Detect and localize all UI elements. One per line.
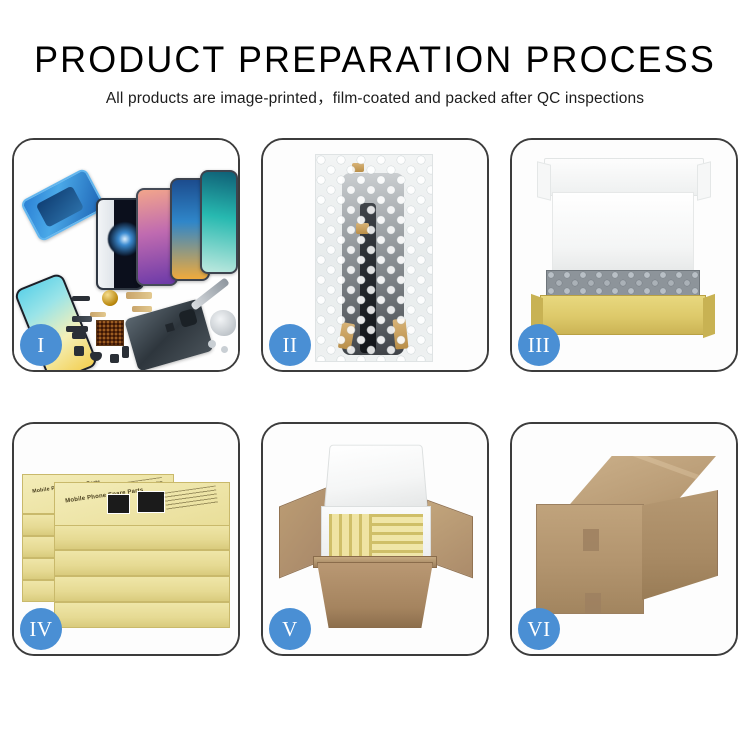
small-part bbox=[66, 326, 88, 332]
packed-yellow-boxes bbox=[329, 514, 423, 556]
sealed-carton bbox=[536, 456, 718, 616]
carton-tape-mark bbox=[583, 529, 599, 551]
page-header: PRODUCT PREPARATION PROCESS All products… bbox=[0, 0, 750, 111]
bubble-texture bbox=[316, 155, 432, 361]
process-step-panel-2: II bbox=[261, 138, 489, 372]
box-artwork-phone bbox=[107, 494, 130, 514]
screw-part bbox=[208, 340, 216, 348]
gold-component-icon bbox=[102, 290, 118, 306]
process-step-panel-6: VI bbox=[510, 422, 738, 656]
carton-seam bbox=[606, 442, 720, 488]
grey-bubble-wrap-layer bbox=[546, 270, 700, 298]
white-foam-sheet bbox=[552, 192, 694, 272]
stacked-box bbox=[54, 550, 230, 576]
styrofoam-lid bbox=[324, 445, 428, 509]
hand-holding-tool bbox=[210, 310, 236, 336]
small-part bbox=[74, 346, 84, 356]
small-part bbox=[122, 346, 129, 358]
process-step-panel-5: V bbox=[261, 422, 489, 656]
flex-cable-part bbox=[126, 292, 152, 299]
small-part bbox=[72, 296, 90, 301]
box-artwork-phone bbox=[137, 491, 165, 514]
bubble-wrap-bag bbox=[315, 154, 433, 362]
stacked-box-labelled: Mobile Phone Spare Parts bbox=[54, 482, 230, 526]
step-badge-6: VI bbox=[518, 608, 560, 650]
box-lid-open bbox=[544, 158, 704, 196]
process-steps-grid: I II III bbox=[12, 138, 738, 656]
process-step-panel-4: Mobile Phone Spare Parts Mobile Phone Sp… bbox=[12, 422, 240, 656]
process-step-panel-1: I bbox=[12, 138, 240, 372]
flex-cable-part bbox=[90, 312, 106, 317]
carton-front-face bbox=[536, 504, 644, 614]
carton-body bbox=[317, 562, 433, 628]
step-badge-2: II bbox=[269, 324, 311, 366]
small-part bbox=[110, 354, 119, 363]
stacked-box bbox=[54, 602, 230, 628]
page-title: PRODUCT PREPARATION PROCESS bbox=[11, 38, 739, 82]
yellow-kraft-box-tray bbox=[540, 295, 706, 335]
step-badge-3: III bbox=[518, 324, 560, 366]
connector-grid-part bbox=[96, 320, 124, 346]
phone-teal-swirl bbox=[200, 170, 238, 274]
stacked-box bbox=[54, 524, 230, 550]
carton-side-face bbox=[642, 490, 718, 600]
flex-cable-part bbox=[132, 306, 152, 312]
process-step-panel-3: III bbox=[510, 138, 738, 372]
page-subtitle: All products are image-printed，film-coat… bbox=[0, 87, 750, 111]
step-badge-5: V bbox=[269, 608, 311, 650]
step-badge-4: IV bbox=[20, 608, 62, 650]
stacked-box bbox=[54, 576, 230, 602]
screw-part bbox=[221, 346, 228, 353]
carton-tape-mark bbox=[585, 593, 601, 613]
step-badge-1: I bbox=[20, 324, 62, 366]
flex-cable-part bbox=[72, 316, 92, 322]
small-part bbox=[72, 332, 86, 339]
